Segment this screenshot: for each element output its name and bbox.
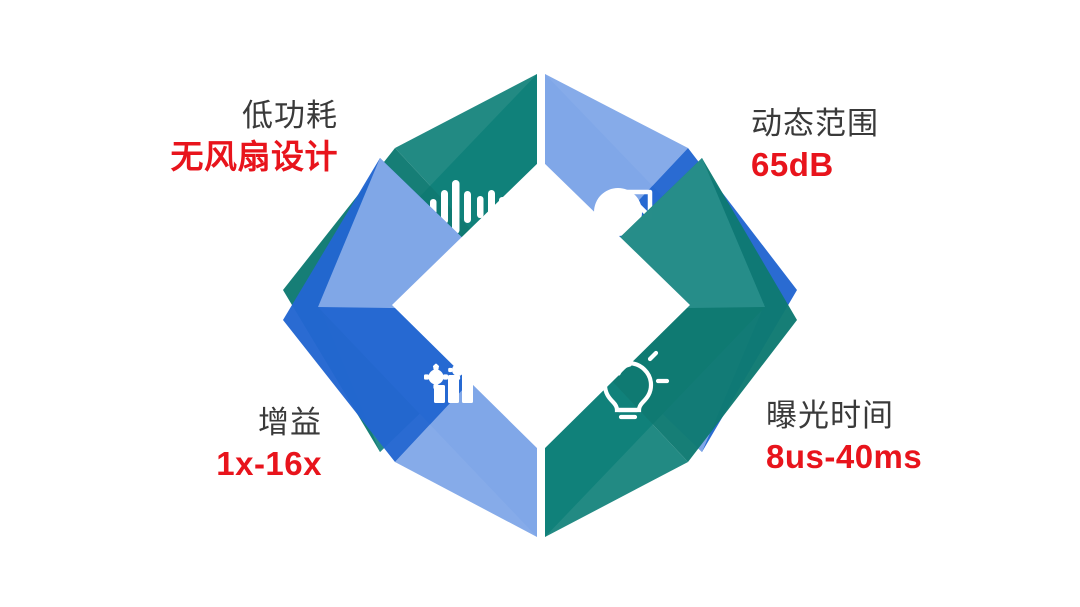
- label-bottom-left-value: 1x-16x: [216, 445, 322, 484]
- star-diamond-graphic: [0, 0, 1080, 607]
- label-bottom-right-title: 曝光时间: [766, 398, 922, 435]
- label-top-right: 动态范围 65dB: [751, 106, 879, 185]
- label-bottom-left: 增益 1x-16x: [216, 405, 322, 484]
- label-bottom-right: 曝光时间 8us-40ms: [766, 398, 922, 477]
- label-top-right-title: 动态范围: [751, 106, 879, 143]
- label-top-left-title: 低功耗: [171, 98, 339, 135]
- label-bottom-left-title: 增益: [216, 405, 322, 442]
- label-bottom-right-value: 8us-40ms: [766, 438, 922, 477]
- label-top-left-value: 无风扇设计: [171, 138, 339, 177]
- label-top-right-value: 65dB: [751, 146, 879, 185]
- label-top-left: 低功耗 无风扇设计: [171, 98, 339, 177]
- infographic-canvas: 低功耗 无风扇设计 动态范围 65dB 增益 1x-16x 曝光时间 8us-4…: [0, 0, 1080, 607]
